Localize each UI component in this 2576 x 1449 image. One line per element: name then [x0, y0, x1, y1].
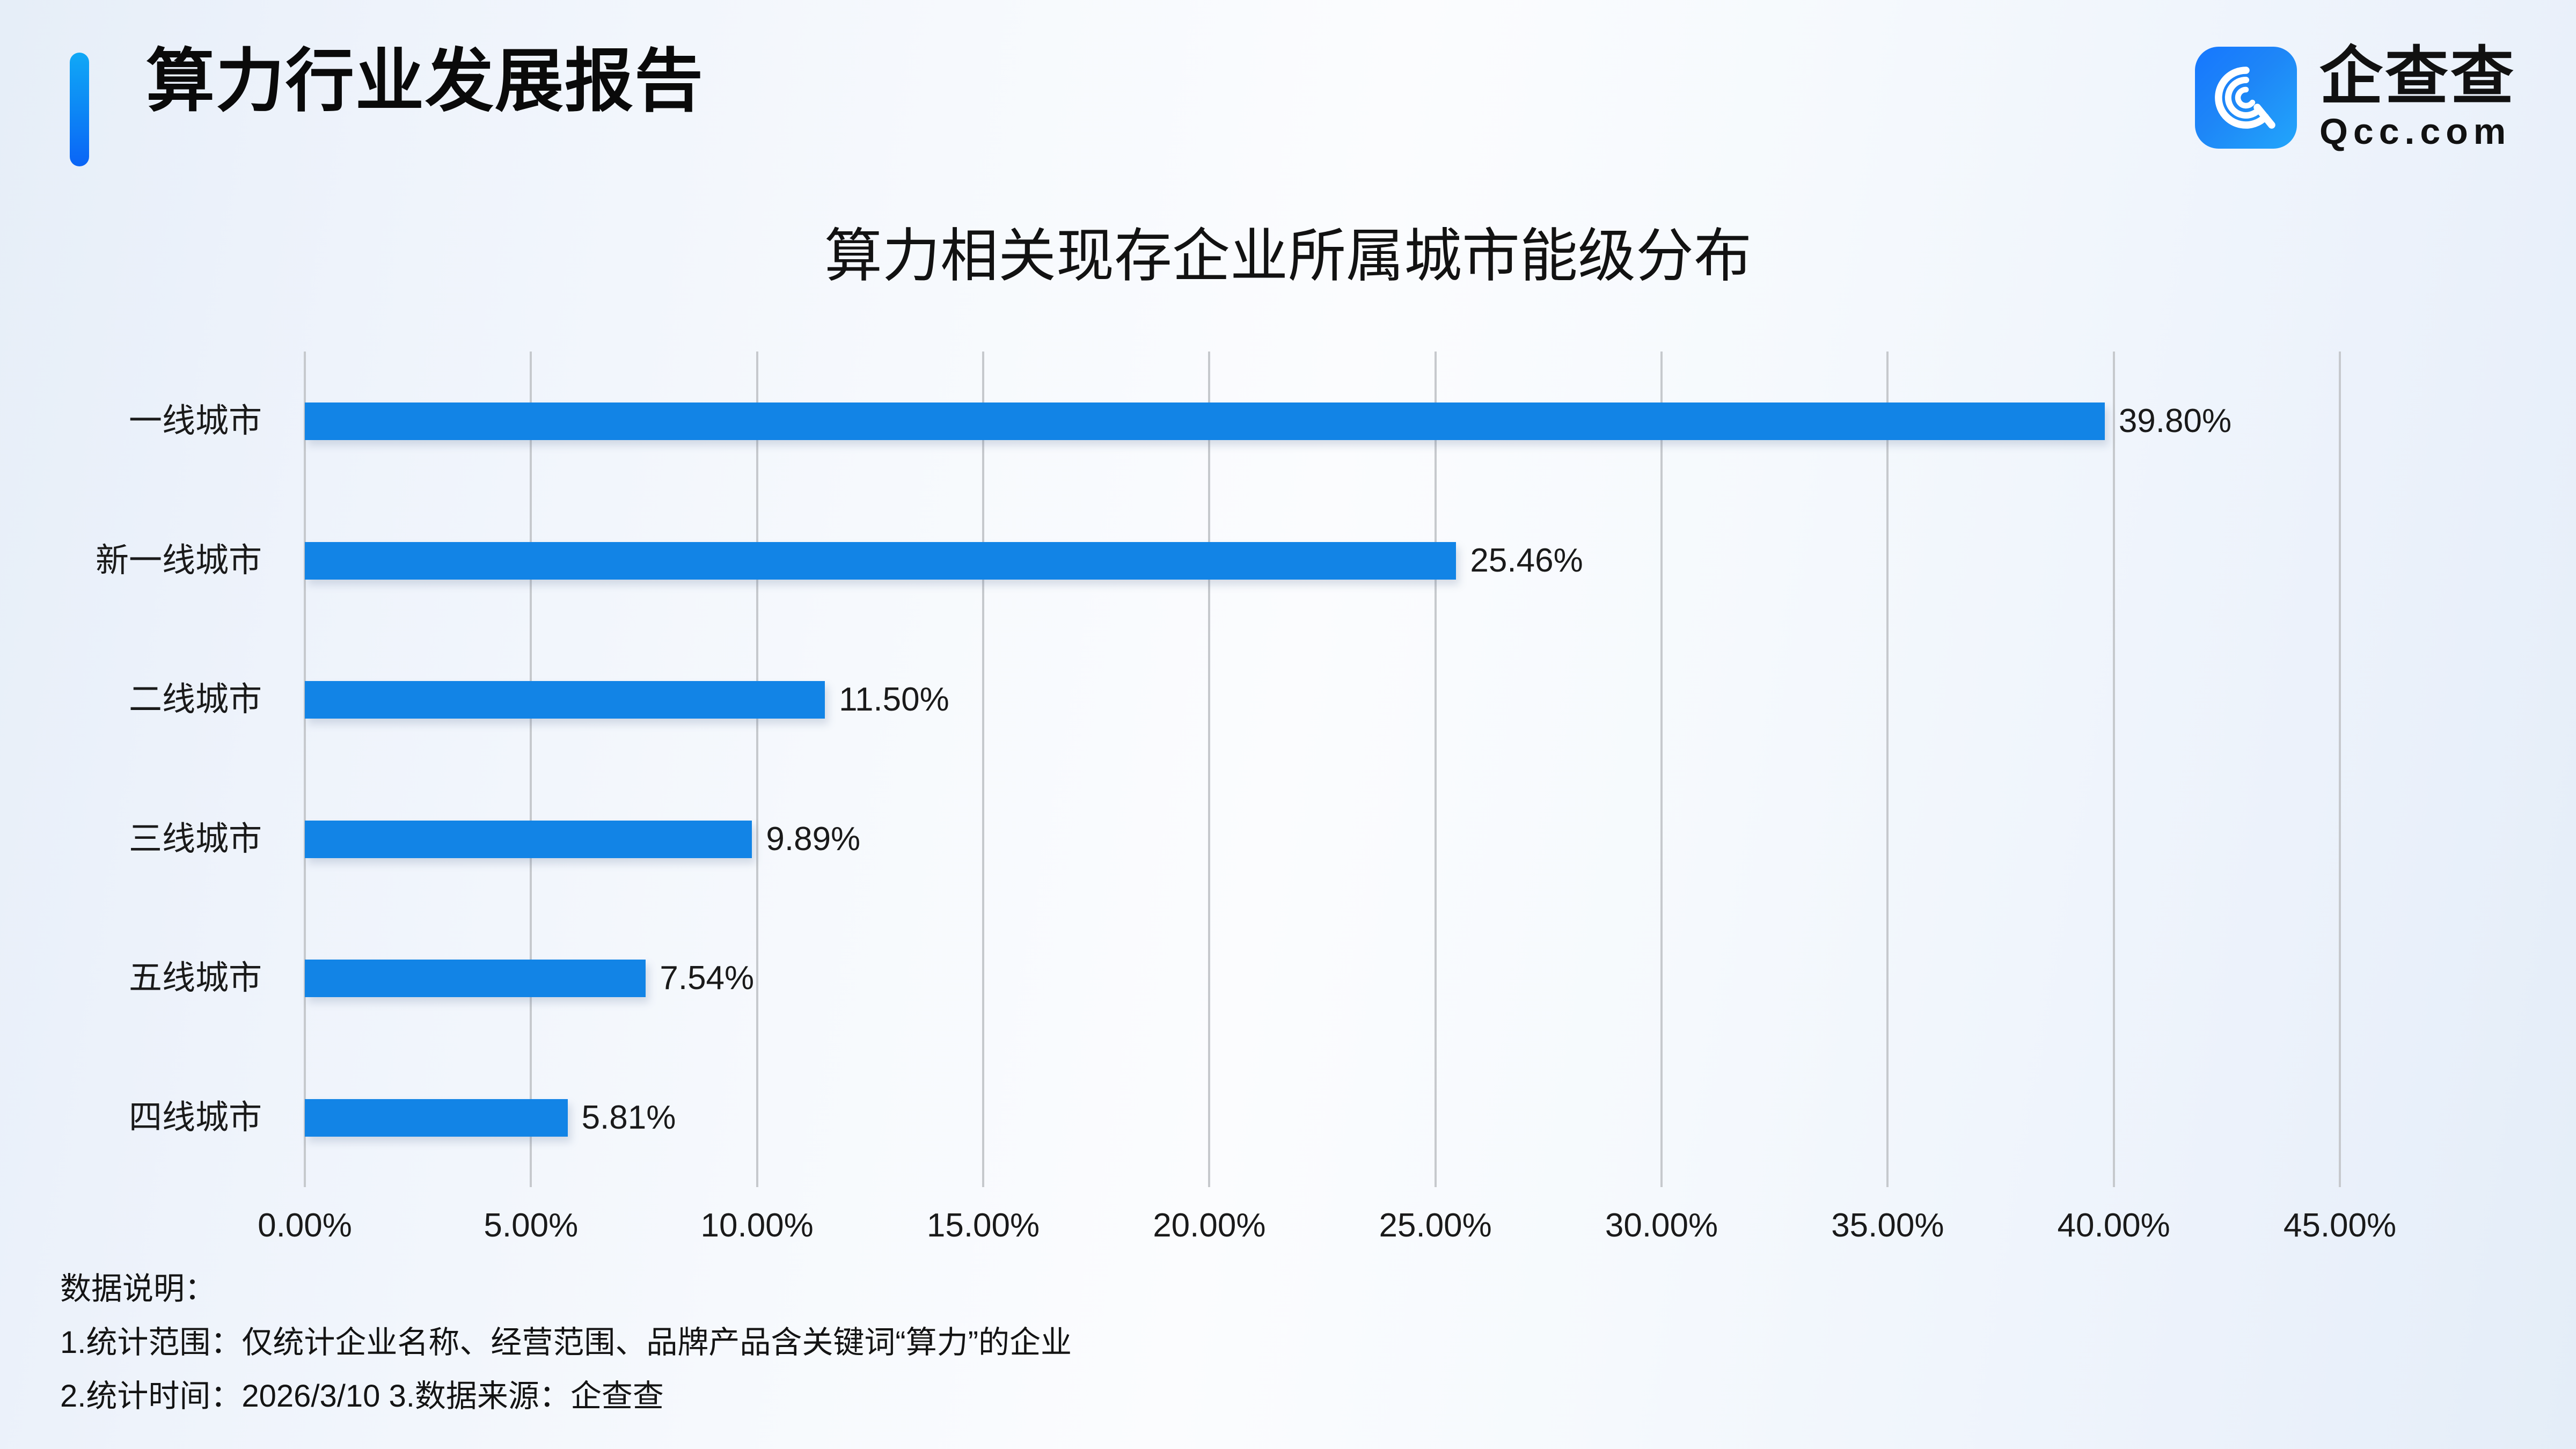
- y-axis-category-label: 二线城市: [0, 681, 262, 719]
- chart-title: 算力相关现存企业所属城市能级分布: [0, 209, 2576, 293]
- x-axis-tick-labels: 0.00%5.00%10.00%15.00%20.00%25.00%30.00%…: [305, 1206, 2340, 1255]
- x-axis-tick-label: 0.00%: [258, 1206, 352, 1245]
- bar[interactable]: [305, 402, 2105, 440]
- bar-value-label: 7.54%: [646, 960, 754, 997]
- bar[interactable]: [305, 681, 825, 719]
- y-axis-category-label: 五线城市: [0, 960, 262, 997]
- bar-value-label: 39.80%: [2105, 402, 2231, 440]
- x-axis-tick-label: 35.00%: [1831, 1206, 1944, 1245]
- y-axis-category-label: 三线城市: [0, 821, 262, 858]
- brand-name: 企查查: [2319, 44, 2516, 111]
- x-axis-tick-label: 30.00%: [1605, 1206, 1718, 1245]
- notes-heading: 数据说明：: [60, 1262, 2421, 1316]
- bar[interactable]: [305, 960, 646, 997]
- x-axis-tick-label: 40.00%: [2058, 1206, 2170, 1245]
- notes-line-1: 1.统计范围：仅统计企业名称、经营范围、品牌产品含关键词“算力”的企业: [60, 1316, 2421, 1370]
- bar-row[interactable]: 5.81%: [305, 1048, 2340, 1188]
- y-axis-category-label: 四线城市: [0, 1099, 262, 1137]
- notes-line-2: 2.统计时间：2026/3/10 3.数据来源：企查查: [60, 1370, 2421, 1423]
- page-title: 算力行业发展报告: [146, 47, 704, 116]
- brand-logo: 企查查 Qcc.com: [2195, 44, 2516, 151]
- y-axis-category-label: 新一线城市: [0, 542, 262, 580]
- x-axis-tick-label: 45.00%: [2284, 1206, 2396, 1245]
- bar-value-label: 9.89%: [752, 821, 860, 858]
- bar[interactable]: [305, 542, 1456, 580]
- bar[interactable]: [305, 1099, 568, 1137]
- title-accent-bar: [70, 53, 89, 166]
- data-notes: 数据说明： 1.统计范围：仅统计企业名称、经营范围、品牌产品含关键词“算力”的企…: [60, 1262, 2421, 1423]
- brand-text: 企查查 Qcc.com: [2319, 44, 2516, 151]
- bar-value-label: 11.50%: [825, 681, 949, 719]
- brand-domain: Qcc.com: [2319, 113, 2516, 151]
- x-axis-tick-label: 10.00%: [701, 1206, 814, 1245]
- page-header: 算力行业发展报告 企查查 Qcc.com: [0, 0, 2576, 193]
- bar-row[interactable]: 9.89%: [305, 770, 2340, 909]
- bar-value-label: 5.81%: [568, 1099, 676, 1137]
- bar-row[interactable]: 25.46%: [305, 491, 2340, 631]
- x-axis-tick-label: 15.00%: [927, 1206, 1040, 1245]
- x-axis-tick-label: 25.00%: [1379, 1206, 1492, 1245]
- bar-value-label: 25.46%: [1456, 542, 1583, 580]
- bar-row[interactable]: 39.80%: [305, 352, 2340, 491]
- x-axis-tick-label: 20.00%: [1153, 1206, 1265, 1245]
- y-axis-category-label: 一线城市: [0, 402, 262, 440]
- bar-row[interactable]: 7.54%: [305, 909, 2340, 1048]
- x-axis-tick-label: 5.00%: [484, 1206, 578, 1245]
- qcc-logo-icon: [2195, 47, 2297, 149]
- bar-row[interactable]: 11.50%: [305, 630, 2340, 770]
- bar[interactable]: [305, 821, 752, 858]
- chart-plot-area: 39.80%25.46%11.50%9.89%7.54%5.81%: [305, 352, 2340, 1187]
